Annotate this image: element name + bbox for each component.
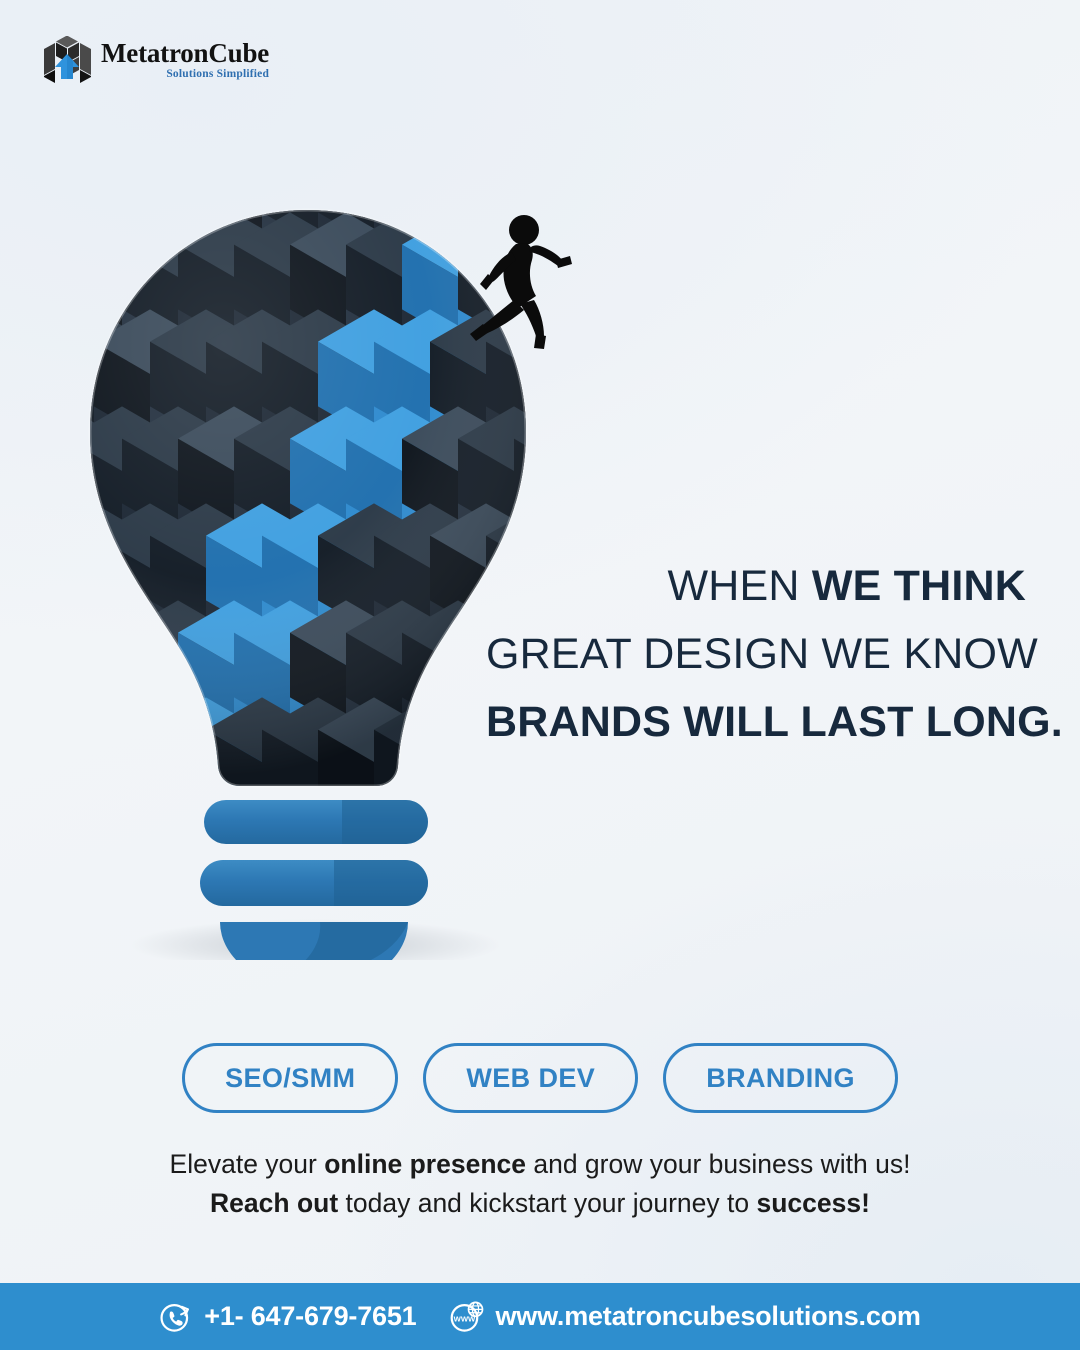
footer-website-item[interactable]: WWW www.metatroncubesolutions.com xyxy=(450,1300,920,1334)
headline-line-1: WHEN WE THINK xyxy=(486,552,1026,620)
tagline-line-2-part-1: today and kickstart your journey to xyxy=(338,1188,756,1218)
service-pill-branding[interactable]: BRANDING xyxy=(663,1043,898,1113)
tagline-line-2-bold-reach-out: Reach out xyxy=(210,1188,338,1218)
service-pill-web-dev[interactable]: WEB DEV xyxy=(423,1043,638,1113)
bulb-base xyxy=(200,800,428,960)
contact-footer-bar: +1- 647-679-7651 WWW www.metatroncubesol… xyxy=(0,1283,1080,1350)
brand-name: MetatronCube xyxy=(101,40,269,67)
footer-phone-item[interactable]: +1- 647-679-7651 xyxy=(159,1300,416,1334)
service-pill-seo-smm[interactable]: SEO/SMM xyxy=(182,1043,398,1113)
headline: WHEN WE THINK GREAT DESIGN WE KNOW BRAND… xyxy=(486,552,1026,756)
footer-phone-number: +1- 647-679-7651 xyxy=(204,1301,416,1332)
cube-arrow-logo-icon xyxy=(42,36,92,84)
phone-call-icon xyxy=(159,1300,193,1334)
headline-line-2: GREAT DESIGN WE KNOW xyxy=(486,620,1026,688)
tagline-line-1-bold-online-presence: online presence xyxy=(324,1149,526,1179)
tagline-line-2-bold-success: success! xyxy=(756,1188,869,1218)
headline-line-1-regular: WHEN xyxy=(667,562,811,610)
tagline-line-1: Elevate your online presence and grow yo… xyxy=(0,1145,1080,1184)
footer-website-url: www.metatroncubesolutions.com xyxy=(495,1301,920,1332)
social-media-poster: MetatronCube Solutions Simplified xyxy=(0,0,1080,1350)
running-person-silhouette-icon xyxy=(458,208,588,358)
tagline-line-1-part-1: Elevate your xyxy=(170,1149,325,1179)
tagline-line-2: Reach out today and kickstart your journ… xyxy=(0,1184,1080,1223)
brand-logo[interactable]: MetatronCube Solutions Simplified xyxy=(42,36,269,84)
brand-logo-text: MetatronCube Solutions Simplified xyxy=(101,40,269,81)
brand-tagline: Solutions Simplified xyxy=(101,69,269,81)
headline-line-3: BRANDS WILL LAST LONG. xyxy=(486,688,1026,756)
tagline-line-1-part-2: and grow your business with us! xyxy=(526,1149,910,1179)
headline-line-1-bold: WE THINK xyxy=(812,562,1026,610)
www-globe-icon: WWW xyxy=(450,1300,484,1334)
service-pill-group: SEO/SMM WEB DEV BRANDING xyxy=(0,1043,1080,1113)
call-to-action-tagline: Elevate your online presence and grow yo… xyxy=(0,1145,1080,1223)
